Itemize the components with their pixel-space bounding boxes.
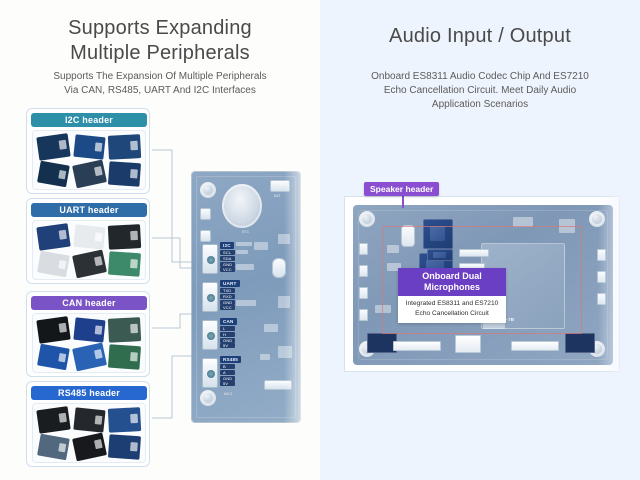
right-subtitle-line-2: Echo Cancellation Circuit. Meet Daily Au…: [348, 84, 612, 98]
microphone-callout-body: Integrated ES8311 and ES7210 Echo Cancel…: [398, 296, 506, 323]
speaker-callout-lead-line: [402, 194, 404, 208]
jst-connector: [200, 230, 211, 242]
peripheral-chip: [108, 434, 141, 459]
peripheral-chip: [37, 250, 69, 276]
connector-tag-uart: UART: [220, 280, 240, 287]
board-connector-can: CAN L H GND 5V: [202, 318, 256, 352]
pin-label: SDA: [220, 256, 235, 261]
pin-label: H: [220, 332, 235, 337]
peripheral-chip: [72, 432, 107, 460]
pin-label: GND: [220, 300, 235, 305]
peripheral-chip: [37, 433, 69, 459]
connector-pin-list-can: L H GND 5V: [220, 326, 235, 349]
peripheral-card-can[interactable]: CAN header: [26, 291, 150, 377]
connector-socket: [202, 282, 218, 312]
edge-connector: [359, 287, 368, 299]
connector-socket: [202, 358, 218, 388]
left-panel: Supports Expanding Multiple Peripherals …: [0, 0, 320, 480]
peripheral-badge-rs485: RS485 header: [31, 386, 147, 400]
peripheral-chip: [72, 342, 107, 370]
peripheral-card-i2c[interactable]: I2C header: [26, 108, 150, 194]
connector-tag-can: CAN: [220, 318, 237, 325]
peripheral-image-grid-rs485: [32, 403, 146, 463]
left-headline: Supports Expanding Multiple Peripherals: [18, 16, 302, 66]
peripheral-chip: [37, 160, 69, 186]
pin-label: 5V: [220, 343, 235, 348]
left-headline-line-2: Multiple Peripherals: [18, 41, 302, 66]
peripheral-chip: [108, 317, 141, 342]
microphone-callout-body-line-1: Integrated ES8311 and ES7210: [401, 299, 503, 309]
gpio-header-right: [565, 333, 595, 353]
microphone-callout-title-line-2: Microphones: [400, 282, 504, 293]
peripheral-badge-i2c: I2C header: [31, 113, 147, 127]
peripheral-chip: [72, 159, 107, 187]
peripheral-chip: [36, 133, 70, 160]
peripheral-chip: [36, 406, 70, 433]
right-subtitle: Onboard ES8311 Audio Codec Chip And ES72…: [348, 70, 612, 112]
pin-label: GND: [220, 262, 235, 267]
left-headline-line-1: Supports Expanding: [18, 16, 302, 41]
peripheral-chip: [73, 134, 105, 159]
pin-label: VCC: [220, 305, 235, 310]
board-edge-fade: [284, 150, 320, 450]
slide-root: Supports Expanding Multiple Peripherals …: [0, 0, 640, 480]
peripheral-image-grid-i2c: [32, 130, 146, 190]
peripheral-chip: [73, 224, 105, 249]
silk-mic1: MIC1: [224, 392, 233, 396]
peripheral-chip: [36, 223, 70, 250]
peripheral-chip: [108, 251, 141, 276]
peripheral-card-uart[interactable]: UART header: [26, 198, 150, 284]
pin-label: VCC: [220, 267, 235, 272]
microphone-callout: Onboard Dual Microphones Integrated ES83…: [398, 268, 506, 323]
peripheral-card-rs485[interactable]: RS485 header: [26, 381, 150, 467]
pin-label: SCL: [220, 250, 235, 255]
peripheral-chip: [108, 134, 141, 159]
white-connector: [511, 341, 559, 351]
left-subtitle-line-2: Via CAN, RS485, UART And I2C Interfaces: [22, 84, 298, 98]
solder-pad: [260, 354, 270, 360]
peripheral-chip: [108, 407, 141, 432]
silk-rtc: RTC: [242, 230, 249, 234]
pin-label: GND: [220, 376, 235, 381]
edge-connector: [359, 309, 368, 321]
peripheral-chip: [73, 317, 105, 342]
silk-bat: BAT: [274, 194, 281, 198]
right-headline: Audio Input / Output: [338, 24, 622, 49]
right-subtitle-line-3: Application Scenarios: [348, 98, 612, 112]
peripheral-chip: [108, 224, 141, 249]
connector-socket: [202, 244, 218, 274]
solder-pad: [254, 242, 268, 250]
pin-label: B: [220, 364, 235, 369]
board-connector-i2c: I2C SCL SDA GND VCC: [202, 242, 256, 276]
pin-label: L: [220, 326, 235, 331]
jst-connector: [200, 208, 211, 220]
board-connector-rs485: RS485 B A GND 5V: [202, 356, 256, 390]
mounting-hole: [200, 182, 216, 198]
peripheral-image-grid-uart: [32, 220, 146, 280]
solder-pad: [264, 324, 278, 332]
peripheral-chip: [108, 161, 141, 186]
microphone-callout-title-line-1: Onboard Dual: [400, 271, 504, 282]
right-headline-text: Audio Input / Output: [338, 24, 622, 49]
pin-label: RXD: [220, 294, 235, 299]
peripheral-badge-uart: UART header: [31, 203, 147, 217]
connector-pin-list-uart: TXD RXD GND VCC: [220, 288, 235, 311]
connector-socket: [202, 320, 218, 350]
peripheral-image-grid-can: [32, 313, 146, 373]
peripheral-chip: [36, 316, 70, 343]
connector-pin-list-i2c: SCL SDA GND VCC: [220, 250, 235, 273]
pin-label: GND: [220, 338, 235, 343]
right-subtitle-line-1: Onboard ES8311 Audio Codec Chip And ES72…: [348, 70, 612, 84]
connector-pin-list-rs485: B A GND 5V: [220, 364, 235, 387]
white-connector: [455, 335, 481, 353]
peripheral-chip: [108, 344, 141, 369]
peripheral-chip: [73, 407, 105, 432]
edge-connector: [359, 265, 368, 277]
board-connector-uart: UART TXD RXD GND VCC: [202, 280, 256, 314]
mounting-hole: [359, 211, 375, 227]
pin-label: TXD: [220, 288, 235, 293]
peripheral-chip: [37, 343, 69, 369]
coin-cell-holder: [222, 184, 262, 228]
peripheral-badge-can: CAN header: [31, 296, 147, 310]
pin-label: 5V: [220, 381, 235, 386]
microphone-callout-title: Onboard Dual Microphones: [398, 268, 506, 296]
connector-tag-rs485: RS485: [220, 356, 241, 363]
pin-label: A: [220, 370, 235, 375]
right-board-edge-fade: [598, 190, 640, 380]
microphone-callout-body-line-2: Echo Cancellation Circuit: [401, 309, 503, 319]
connector-tag-i2c: I2C: [220, 242, 234, 249]
edge-connector: [359, 243, 368, 255]
left-subtitle-line-1: Supports The Expansion Of Multiple Perip…: [22, 70, 298, 84]
left-subtitle: Supports The Expansion Of Multiple Perip…: [22, 70, 298, 98]
mounting-hole: [200, 390, 216, 406]
speaker-header-badge: Speaker header: [364, 182, 439, 196]
peripheral-chip: [72, 249, 107, 277]
white-connector: [393, 341, 441, 351]
